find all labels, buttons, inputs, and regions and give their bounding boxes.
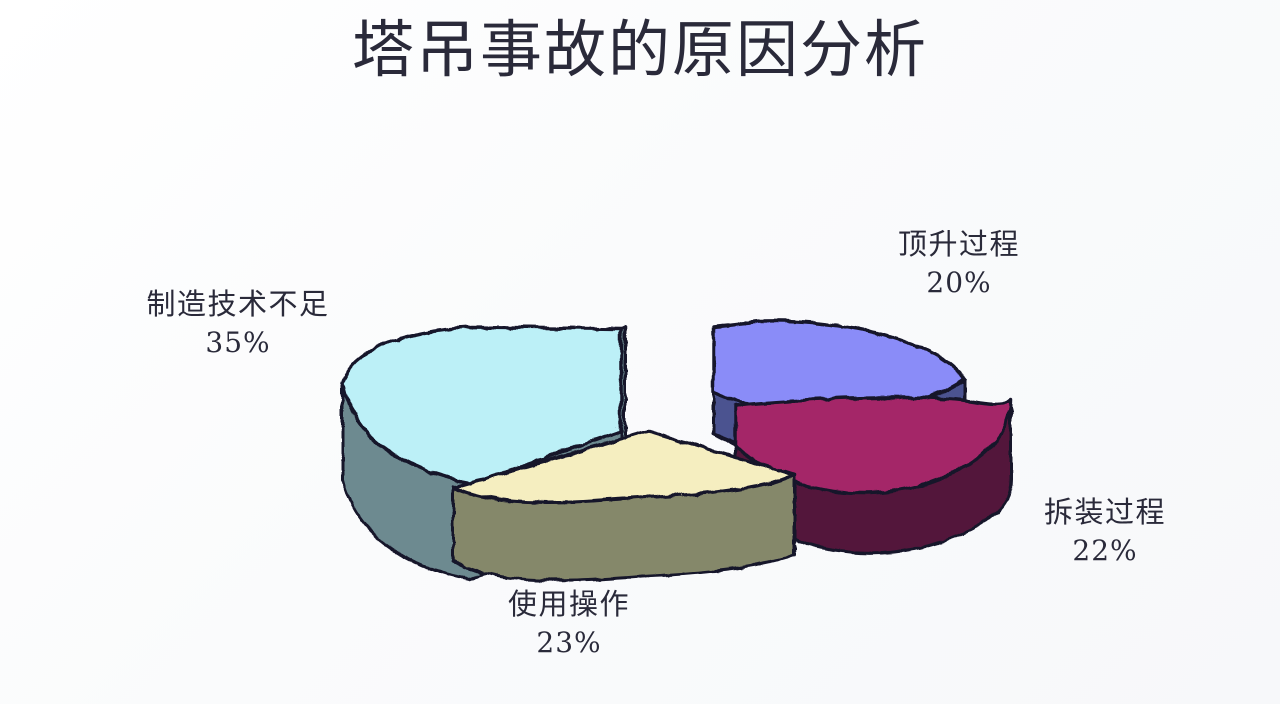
slice-label-manufacture-name: 制造技术不足	[104, 286, 372, 323]
slice-label-jacking: 顶升过程 20%	[846, 226, 1072, 301]
slice-label-operation: 使用操作 23%	[456, 586, 682, 661]
slide-canvas: 塔吊事故的原因分析	[0, 0, 1280, 704]
slice-label-operation-value: 23%	[456, 625, 682, 661]
slice-label-dismantle: 拆装过程 22%	[992, 494, 1218, 569]
slice-label-dismantle-name: 拆装过程	[992, 494, 1218, 531]
slice-label-jacking-value: 20%	[846, 265, 1072, 301]
slice-label-jacking-name: 顶升过程	[846, 226, 1072, 263]
slice-label-manufacture: 制造技术不足 35%	[104, 286, 372, 361]
slice-label-operation-name: 使用操作	[456, 586, 682, 623]
slice-label-manufacture-value: 35%	[104, 325, 372, 361]
slice-label-dismantle-value: 22%	[992, 533, 1218, 569]
